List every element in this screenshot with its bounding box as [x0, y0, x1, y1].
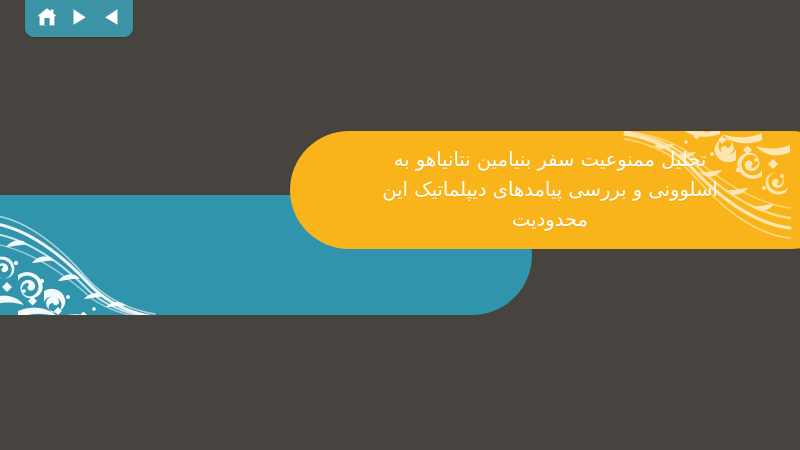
home-button[interactable]: [34, 4, 60, 30]
slide-canvas: تحلیل ممنوعیت سفر بنیامین نتانیاهو به اس…: [0, 0, 800, 450]
next-slide-button[interactable]: [66, 4, 92, 30]
arabesque-ornament-top-right-icon: [612, 131, 792, 249]
triangle-right-icon: [71, 8, 88, 26]
arabesque-ornament-bottom-left-icon: [0, 203, 156, 315]
slide-navigation-bar: [25, 0, 133, 37]
orange-banner: [290, 131, 800, 249]
home-icon: [36, 7, 58, 27]
previous-slide-button[interactable]: [98, 4, 124, 30]
triangle-left-icon: [103, 8, 120, 26]
